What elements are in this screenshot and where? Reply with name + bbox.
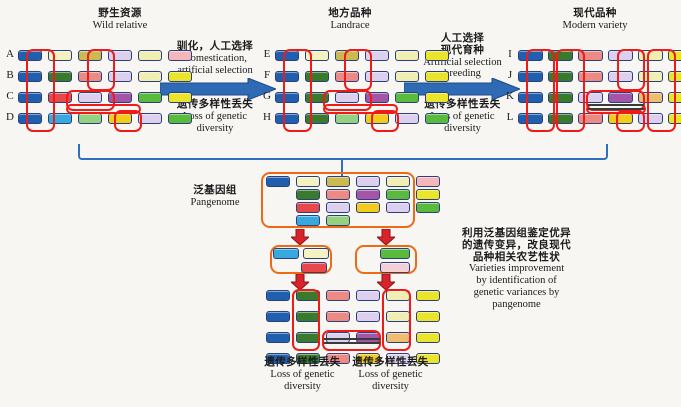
- gene-block: [273, 248, 299, 259]
- modern-deletion-bar-1: [588, 104, 644, 106]
- gene-block: [335, 113, 359, 124]
- gene-block: [266, 176, 290, 187]
- modern-highlight-col2: [556, 49, 585, 132]
- gene-block: [380, 262, 410, 273]
- gene-block: [416, 202, 440, 213]
- row-label: B: [4, 69, 16, 81]
- haplotype-row: [380, 248, 414, 259]
- gene-block: [425, 113, 449, 124]
- converge-bracket: [78, 144, 608, 160]
- callout-en2: by identification of: [424, 275, 609, 287]
- improved-highlight-col6: [382, 289, 411, 351]
- haplotype-row: [380, 262, 414, 273]
- haplotype-row: [296, 215, 356, 226]
- wild-highlight-col1: [26, 49, 55, 132]
- row-label: C: [4, 90, 16, 102]
- row-label: E: [261, 48, 273, 60]
- gene-block: [266, 311, 290, 322]
- callout-cn1: 利用泛基因组鉴定优异: [424, 228, 609, 240]
- gene-block: [138, 50, 162, 61]
- improved-highlight-rowk: [322, 330, 381, 351]
- modern-highlight-col4-ij: [617, 49, 645, 91]
- gene-block: [425, 71, 449, 82]
- gene-block: [266, 290, 290, 301]
- callout-cn2: 的遗传变异，改良现代: [424, 240, 609, 252]
- gene-block: [386, 176, 410, 187]
- gene-block: [356, 189, 380, 200]
- wild-title-cn: 野生资源: [60, 8, 180, 20]
- gene-block: [425, 92, 449, 103]
- modern-highlight-col1: [526, 49, 555, 132]
- gene-block: [356, 202, 380, 213]
- callout-cn3: 品种相关农艺性状: [424, 252, 609, 264]
- gene-block: [416, 311, 440, 322]
- gene-block: [380, 248, 410, 259]
- landrace-highlight-col1: [283, 49, 312, 132]
- callout-en4: pangenome: [424, 299, 609, 311]
- landrace-highlight-col4-ef: [344, 49, 372, 91]
- improved-highlight-col2: [292, 289, 320, 351]
- haplotype-row: [296, 202, 446, 213]
- wild-title-en: Wild relative: [60, 20, 180, 32]
- bottom-caption-right: 遗传多样性丢失 Loss of genetic diversity: [333, 357, 448, 392]
- gene-block: [386, 189, 410, 200]
- gene-block: [356, 176, 380, 187]
- haplotype-row: [266, 176, 446, 187]
- gene-block: [416, 176, 440, 187]
- gene-block: [138, 71, 162, 82]
- gene-block: [78, 113, 102, 124]
- pangenome-title-cn: 泛基因组: [160, 185, 270, 197]
- gene-block: [168, 71, 192, 82]
- callout-text: 利用泛基因组鉴定优异 的遗传变异，改良现代 品种相关农艺性状 Varieties…: [424, 228, 609, 310]
- modern-title-cn: 现代品种: [530, 8, 660, 20]
- gene-block: [326, 215, 350, 226]
- gene-block: [296, 176, 320, 187]
- gene-block: [168, 50, 192, 61]
- landrace-panel-title: 地方品种 Landrace: [290, 8, 410, 32]
- haplotype-row: [296, 189, 446, 200]
- wild-panel-title: 野生资源 Wild relative: [60, 8, 180, 32]
- modern-highlight-col6: [647, 49, 676, 132]
- modern-deletion-bar-2: [588, 108, 644, 110]
- row-label: G: [261, 90, 273, 102]
- modern-highlight-rowl: [616, 110, 645, 132]
- gene-block: [326, 176, 350, 187]
- pangenome-title-en: Pangenome: [160, 197, 270, 209]
- gene-block: [395, 50, 419, 61]
- figure-canvas: 野生资源 Wild relative 地方品种 Landrace 现代品种 Mo…: [0, 0, 681, 407]
- pangenome-label: 泛基因组 Pangenome: [160, 185, 270, 209]
- row-label: L: [504, 111, 516, 123]
- modern-title-en: Modern variety: [530, 20, 660, 32]
- improved-deletion-bar-2: [324, 342, 380, 344]
- row-label: D: [4, 111, 16, 123]
- gene-block: [168, 113, 192, 124]
- wild-highlight-rowd: [114, 110, 142, 132]
- gene-block: [395, 92, 419, 103]
- gene-block: [326, 290, 350, 301]
- modern-panel-title: 现代品种 Modern variety: [530, 8, 660, 32]
- gene-block: [416, 189, 440, 200]
- gene-block: [386, 202, 410, 213]
- gene-block: [296, 215, 320, 226]
- haplotype-row: [301, 262, 331, 273]
- improved-deletion-bar-1: [324, 338, 380, 340]
- gene-block: [301, 262, 327, 273]
- gene-block: [356, 290, 380, 301]
- gene-block: [168, 92, 192, 103]
- landrace-highlight-rowh: [371, 110, 399, 132]
- wild-highlight-col4-ab: [87, 49, 115, 91]
- landrace-title-cn: 地方品种: [290, 8, 410, 20]
- bottom-caption-right-en1: Loss of genetic: [333, 369, 448, 381]
- arrow2-above-cn1: 人工选择: [400, 33, 525, 45]
- haplotype-row: [273, 248, 333, 259]
- gene-block: [425, 50, 449, 61]
- row-label: I: [504, 48, 516, 60]
- row-label: A: [4, 48, 16, 60]
- gene-block: [303, 248, 329, 259]
- bottom-caption-right-en2: diversity: [333, 381, 448, 393]
- gene-block: [416, 332, 440, 343]
- gene-block: [296, 189, 320, 200]
- landrace-title-en: Landrace: [290, 20, 410, 32]
- gene-block: [266, 332, 290, 343]
- row-label: J: [504, 69, 516, 81]
- row-label: F: [261, 69, 273, 81]
- gene-block: [296, 202, 320, 213]
- row-label: K: [504, 90, 516, 102]
- arrow2-below-en2: diversity: [400, 123, 525, 135]
- callout-en1: Varieties improvement: [424, 263, 609, 275]
- gene-block: [326, 311, 350, 322]
- gene-block: [138, 92, 162, 103]
- row-label: H: [261, 111, 273, 123]
- gene-block: [356, 311, 380, 322]
- gene-block: [395, 71, 419, 82]
- gene-block: [326, 202, 350, 213]
- arrow1-below-en2: diversity: [155, 123, 275, 135]
- callout-en3: genetic variances by: [424, 287, 609, 299]
- bottom-caption-right-cn: 遗传多样性丢失: [333, 357, 448, 369]
- gene-block: [326, 189, 350, 200]
